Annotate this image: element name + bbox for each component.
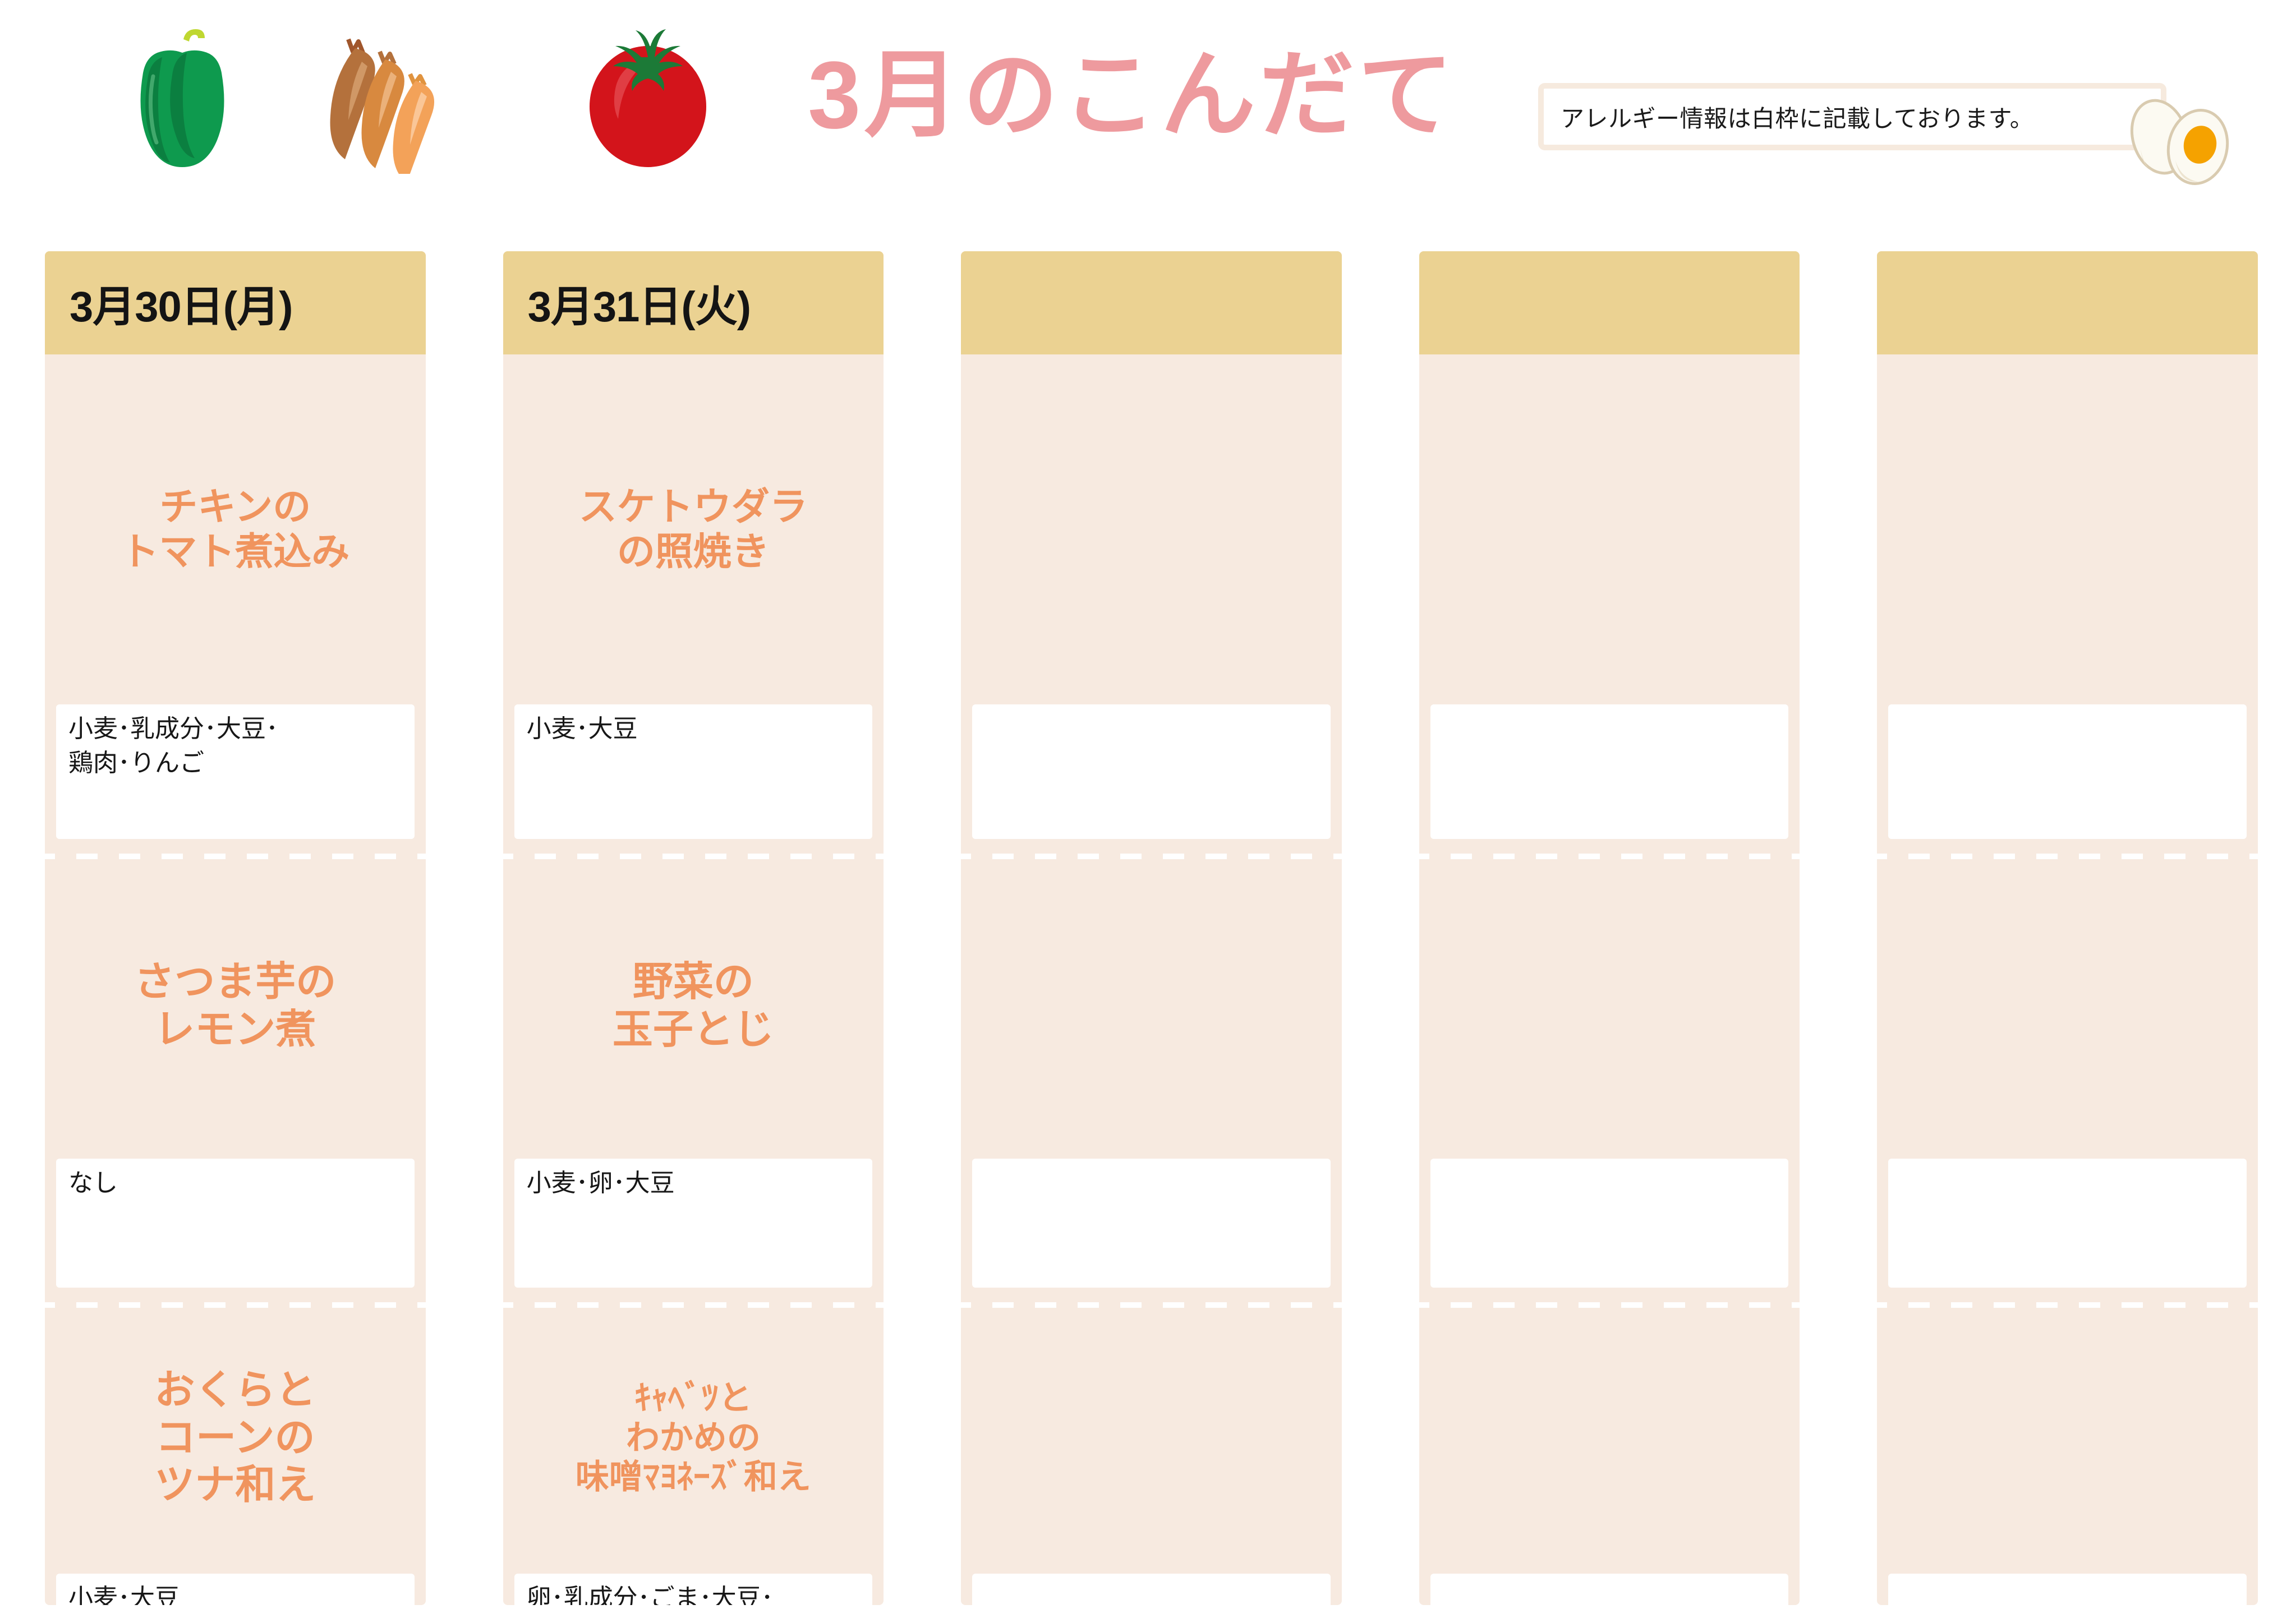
- allergen-box: 卵･乳成分･ごま･大豆･ りんご･ゼラチン: [514, 1574, 873, 1605]
- meal-slot: [1877, 354, 2258, 854]
- day-column-header: 3月30日(月): [45, 251, 426, 354]
- allergy-notice: アレルギー情報は白枠に記載しております。: [1538, 83, 2166, 150]
- allergen-box: 小麦･大豆: [56, 1574, 415, 1605]
- day-column: 3月31日(火)スケトウダラの照焼き小麦･大豆野菜の玉子とじ小麦･卵･大豆ｷｬﾍ…: [503, 251, 884, 1605]
- allergen-text: 小麦･乳成分･大豆･ 鶏肉･りんご: [68, 712, 402, 780]
- meal-slot: チキンのトマト煮込み小麦･乳成分･大豆･ 鶏肉･りんご: [45, 354, 426, 854]
- day-column-body: [1877, 354, 2258, 1605]
- dish-name-line: スケトウダラ: [579, 485, 808, 529]
- meal-slot: [1877, 1302, 2258, 1605]
- day-column-header: [961, 251, 1342, 354]
- allergen-box: 小麦･乳成分･大豆･ 鶏肉･りんご: [56, 704, 415, 839]
- dish-name-line: わかめの: [626, 1418, 761, 1458]
- day-column-body: [1419, 354, 1800, 1605]
- meal-slot: さつま芋のレモン煮なし: [45, 854, 426, 1302]
- dish-name-line: レモン煮: [154, 1006, 316, 1054]
- dish-name: [1430, 1302, 1789, 1574]
- dish-name: [972, 354, 1331, 704]
- meal-slot: [1877, 854, 2258, 1302]
- meal-slot: [1419, 1302, 1800, 1605]
- page-title: 3月のこんだて: [808, 48, 1457, 143]
- dish-name-line: さつま芋の: [134, 958, 336, 1006]
- allergen-box: [972, 704, 1331, 839]
- dish-name: [1430, 854, 1789, 1159]
- day-column: [1877, 251, 2258, 1605]
- dish-name-line: 玉子とじ: [613, 1006, 774, 1054]
- meal-slot: [961, 1302, 1342, 1605]
- dish-name-line: 味噌ﾏﾖﾈｰｽﾞ和え: [576, 1458, 811, 1497]
- allergen-text: 卵･乳成分･ごま･大豆･ りんご･ゼラチン: [527, 1581, 861, 1605]
- allergen-text: 小麦･大豆: [68, 1581, 402, 1605]
- allergen-box: [1430, 1159, 1789, 1288]
- allergen-box: 小麦･卵･大豆: [514, 1159, 873, 1288]
- day-column: [1419, 251, 1800, 1605]
- dish-name-line: おくらと: [154, 1367, 316, 1414]
- allergen-box: [1888, 704, 2247, 839]
- dish-name-line: の照焼き: [617, 529, 770, 574]
- day-column-body: スケトウダラの照焼き小麦･大豆野菜の玉子とじ小麦･卵･大豆ｷｬﾍﾞﾂとわかめの味…: [503, 354, 884, 1605]
- meal-slot: [961, 354, 1342, 854]
- dish-name: おくらとコーンのツナ和え: [56, 1302, 415, 1574]
- allergen-box: [1888, 1574, 2247, 1605]
- allergen-box: [972, 1159, 1331, 1288]
- allergen-box: [972, 1574, 1331, 1605]
- allergen-box: なし: [56, 1159, 415, 1288]
- dish-name: [1888, 1302, 2247, 1574]
- dish-name-line: ｷｬﾍﾞﾂと: [634, 1378, 752, 1418]
- dish-name: ｷｬﾍﾞﾂとわかめの味噌ﾏﾖﾈｰｽﾞ和え: [514, 1302, 873, 1574]
- meal-slot: [1419, 854, 1800, 1302]
- meal-slot: 野菜の玉子とじ小麦･卵･大豆: [503, 854, 884, 1302]
- green-pepper-icon: [121, 22, 250, 174]
- allergen-box: [1430, 1574, 1789, 1605]
- meal-slot: [1419, 354, 1800, 854]
- meal-slot: [961, 854, 1342, 1302]
- dish-name: 野菜の玉子とじ: [514, 854, 873, 1159]
- dish-name-line: 野菜の: [633, 958, 754, 1006]
- allergen-text: 小麦･卵･大豆: [527, 1166, 861, 1201]
- page-header: 3月のこんだて アレルギー情報は白枠に記載しております。: [0, 0, 2296, 241]
- dish-name: [1430, 354, 1789, 704]
- allergen-box: 小麦･大豆: [514, 704, 873, 839]
- dish-name: [1888, 354, 2247, 704]
- meal-slot: おくらとコーンのツナ和え小麦･大豆: [45, 1302, 426, 1605]
- dish-name-line: ツナ和え: [154, 1461, 316, 1509]
- allergen-text: 小麦･大豆: [527, 712, 861, 746]
- day-column: [961, 251, 1342, 1605]
- day-column-header: [1419, 251, 1800, 354]
- meal-slot: スケトウダラの照焼き小麦･大豆: [503, 354, 884, 854]
- dish-name: チキンのトマト煮込み: [56, 354, 415, 704]
- dish-name: [1888, 854, 2247, 1159]
- dish-name: [972, 1302, 1331, 1574]
- day-column-header: 3月31日(火): [503, 251, 884, 354]
- dish-name: さつま芋のレモン煮: [56, 854, 415, 1159]
- allergy-notice-box: アレルギー情報は白枠に記載しております。: [1538, 83, 2166, 150]
- menu-calendar-grid: 3月30日(月)チキンのトマト煮込み小麦･乳成分･大豆･ 鶏肉･りんごさつま芋の…: [45, 251, 2258, 1605]
- allergy-notice-text: アレルギー情報は白枠に記載しております。: [1544, 100, 2033, 134]
- day-column-body: チキンのトマト煮込み小麦･乳成分･大豆･ 鶏肉･りんごさつま芋のレモン煮なしおく…: [45, 354, 426, 1605]
- sausage-icon: [311, 22, 480, 174]
- dish-name-line: コーンの: [155, 1414, 315, 1462]
- meal-slot: ｷｬﾍﾞﾂとわかめの味噌ﾏﾖﾈｰｽﾞ和え卵･乳成分･ごま･大豆･ りんご･ゼラチ…: [503, 1302, 884, 1605]
- dish-name-line: トマト煮込み: [121, 529, 349, 574]
- allergen-box: [1430, 704, 1789, 839]
- dish-name-line: チキンの: [159, 485, 311, 529]
- day-column-body: [961, 354, 1342, 1605]
- day-date-label: 3月30日(月): [70, 272, 292, 334]
- day-date-label: 3月31日(火): [528, 272, 751, 334]
- dish-name: [972, 854, 1331, 1159]
- boiled-egg-icon: [2122, 76, 2239, 188]
- allergen-text: なし: [68, 1166, 402, 1201]
- tomato-icon: [578, 22, 718, 174]
- day-column-header: [1877, 251, 2258, 354]
- allergen-box: [1888, 1159, 2247, 1288]
- day-column: 3月30日(月)チキンのトマト煮込み小麦･乳成分･大豆･ 鶏肉･りんごさつま芋の…: [45, 251, 426, 1605]
- dish-name: スケトウダラの照焼き: [514, 354, 873, 704]
